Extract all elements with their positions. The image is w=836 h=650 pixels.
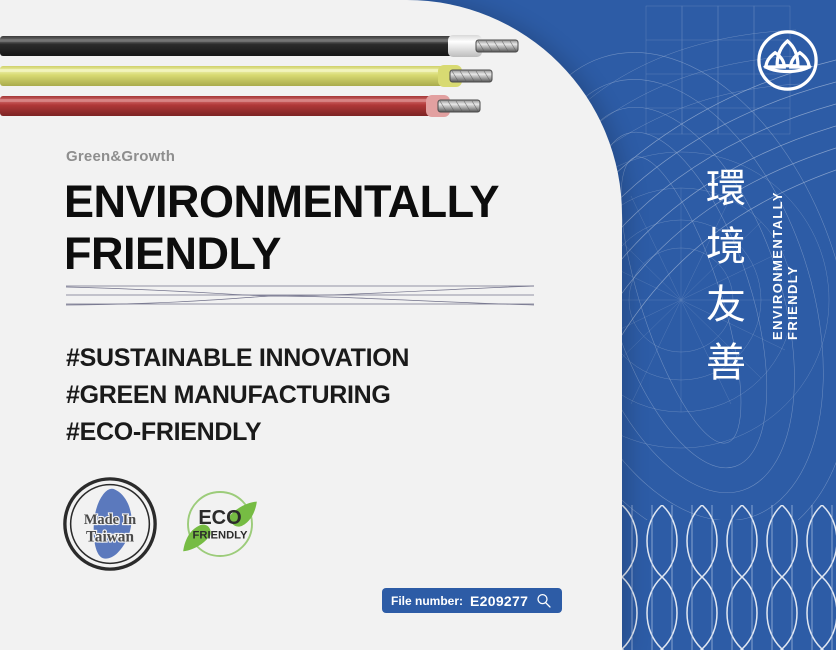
- hashtag-item-1: #SUSTAINABLE INNOVATION: [66, 340, 409, 377]
- cn-char-3: 友: [700, 276, 752, 334]
- magnifier-icon[interactable]: [535, 592, 553, 610]
- red-wire: [0, 95, 480, 117]
- english-vertical-subtitle: ENVIRONMENTALLY FRIENDLY: [770, 140, 800, 340]
- hashtag-item-2: #GREEN MANUFACTURING: [66, 377, 409, 414]
- mit-line-1: Made In: [84, 512, 136, 528]
- page-title: ENVIRONMENTALLY FRIENDLY: [64, 176, 584, 280]
- divider-lines: [66, 282, 534, 310]
- headline-line-1: ENVIRONMENTALLY: [64, 176, 584, 228]
- eco-friendly-badge: ECO FRIENDLY: [180, 484, 260, 564]
- company-circle-logo-icon: [755, 28, 820, 93]
- made-in-taiwan-badge: Made In Taiwan: [62, 476, 158, 572]
- eyebrow-label: Green&Growth: [66, 148, 175, 165]
- file-number-value: E209277: [470, 593, 528, 609]
- hashtag-list: #SUSTAINABLE INNOVATION #GREEN MANUFACTU…: [66, 340, 409, 451]
- eco-line-1: ECO: [198, 507, 241, 529]
- hashtag-item-3: #ECO-FRIENDLY: [66, 414, 409, 451]
- file-number-label: File number:: [391, 594, 463, 608]
- en-vertical-line2: FRIENDLY: [785, 140, 800, 340]
- file-number-badge[interactable]: File number: E209277: [382, 588, 562, 613]
- chinese-vertical-headline: 環 境 友 善: [700, 160, 752, 392]
- cn-char-2: 境: [700, 218, 752, 276]
- mit-line-2: Taiwan: [86, 528, 135, 545]
- lattice-decoration: [622, 505, 836, 650]
- en-vertical-line1: ENVIRONMENTALLY: [770, 140, 785, 340]
- cn-char-1: 環: [700, 160, 752, 218]
- headline-line-2: FRIENDLY: [64, 228, 584, 280]
- wire-illustration-group: [0, 28, 520, 123]
- poster-canvas: 環 境 友 善 ENVIRONMENTALLY FRIENDLY: [0, 0, 836, 650]
- yellow-wire: [0, 65, 492, 87]
- certification-badges: Made In Taiwan ECO FRIENDLY: [62, 476, 260, 572]
- white-content-card: Green&Growth ENVIRONMENTALLY FRIENDLY #S…: [0, 0, 622, 650]
- eco-line-2: FRIENDLY: [193, 529, 248, 541]
- black-wire: [0, 35, 518, 57]
- cn-char-4: 善: [700, 334, 752, 392]
